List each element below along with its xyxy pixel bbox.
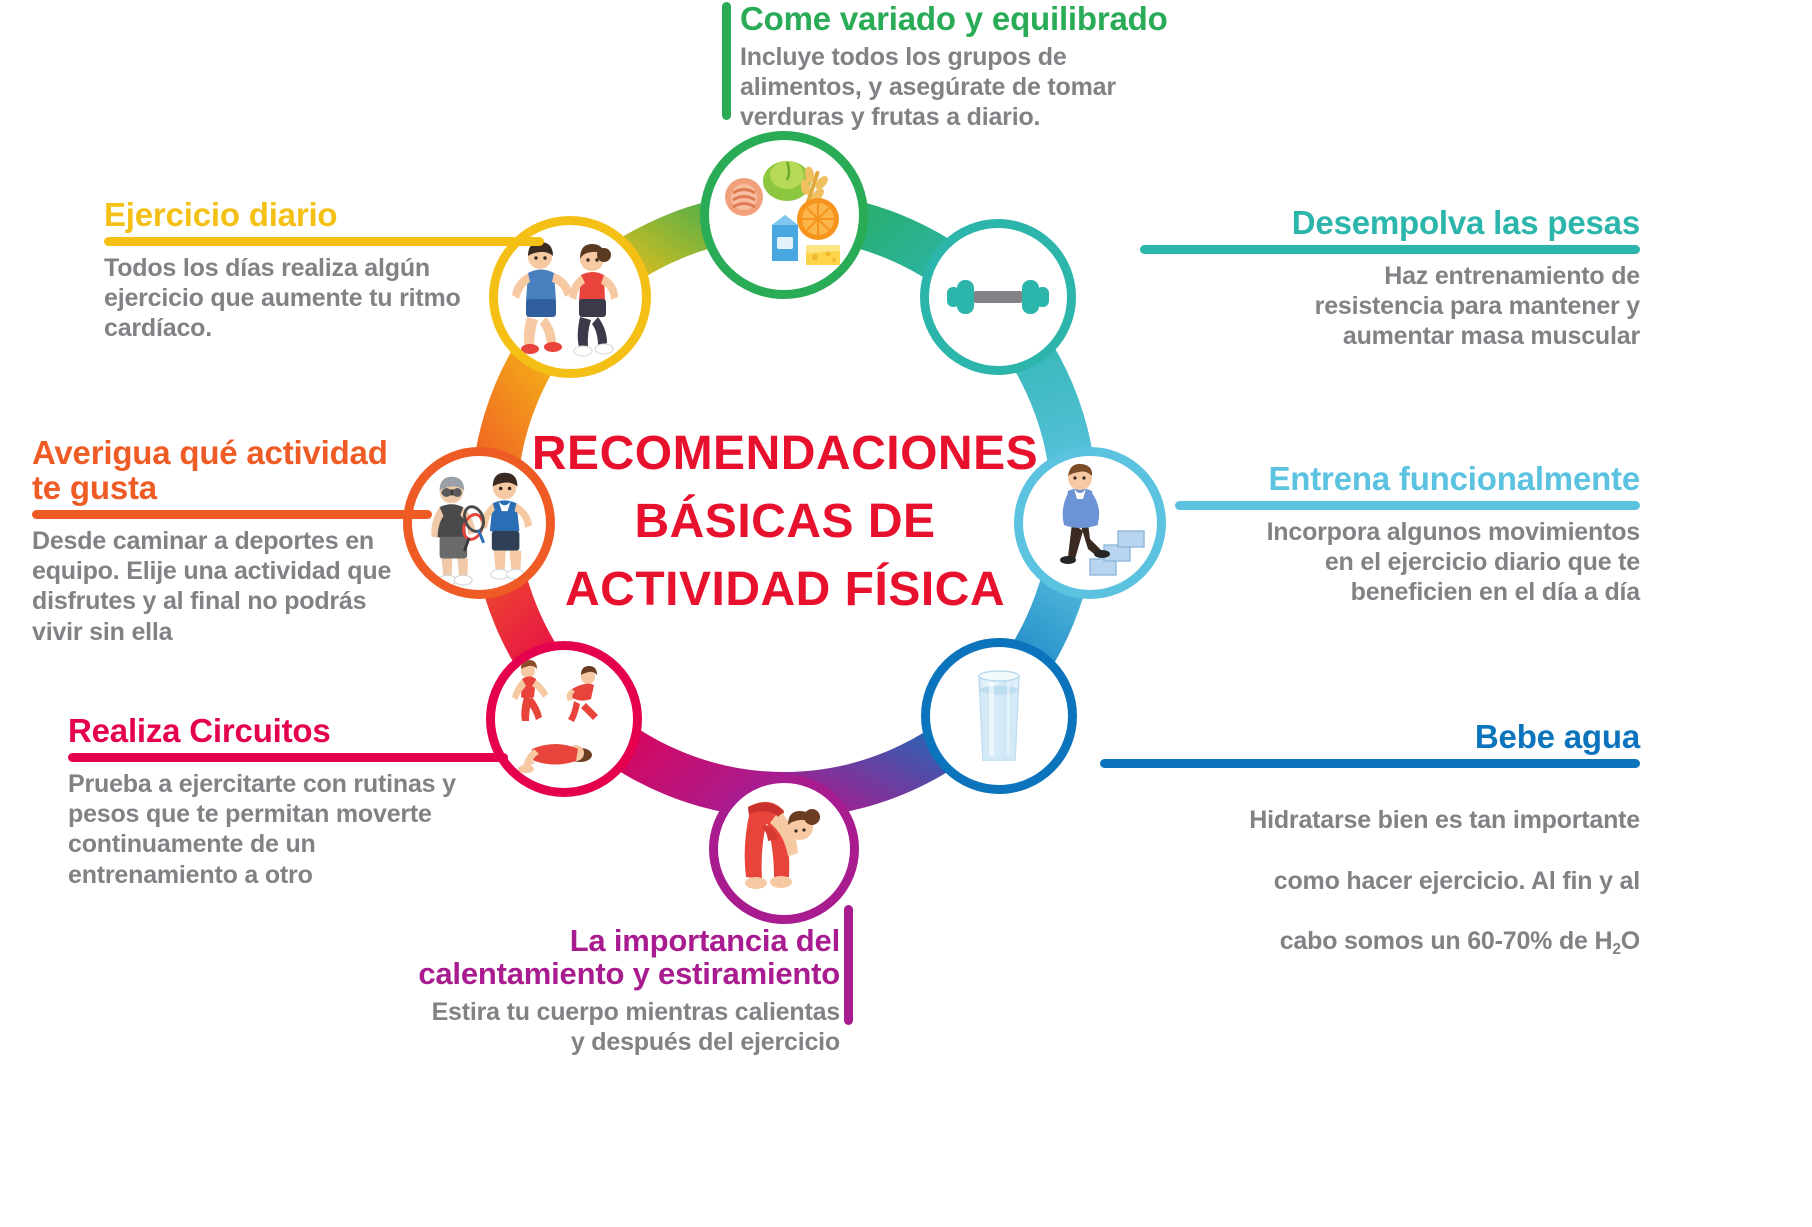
connector-desempolva-pesas — [1140, 245, 1640, 254]
callout-realiza-circuitos: Realiza Circuitos Prueba a ejercitarte c… — [68, 714, 508, 890]
page-title: RECOMENDACIONES BÁSICAS DE ACTIVIDAD FÍS… — [520, 420, 1050, 624]
node-calentamiento-estiramiento[interactable] — [709, 774, 859, 924]
callout-body-averigua-actividad: Desde caminar a deportes en equipo. Elij… — [32, 526, 432, 647]
callout-title-calentamiento-estiramiento: La importancia del calentamiento y estir… — [370, 925, 840, 991]
healthy-food-icon — [714, 145, 854, 285]
callout-body-desempolva-pesas: Haz entrenamiento de resistencia para ma… — [1140, 261, 1640, 352]
dumbbell-icon — [935, 234, 1061, 360]
connector-averigua-actividad — [32, 510, 432, 519]
callout-ejercicio-diario: Ejercicio diario Todos los días realiza … — [104, 198, 544, 344]
infographic-canvas: RECOMENDACIONES BÁSICAS DE ACTIVIDAD FÍS… — [0, 0, 1812, 1227]
bebe-agua-line-3-pre: cabo somos un 60-70% de H — [1280, 927, 1613, 955]
callout-title-ejercicio-diario: Ejercicio diario — [104, 198, 544, 233]
connector-bebe-agua — [1100, 759, 1640, 768]
node-bebe-agua[interactable] — [921, 638, 1077, 794]
stretching-woman-icon — [720, 785, 848, 913]
circuit-training-icon — [496, 651, 632, 787]
bebe-agua-line-3-post: O — [1621, 927, 1640, 955]
callout-title-desempolva-pesas: Desempolva las pesas — [1140, 206, 1640, 241]
callout-title-bebe-agua: Bebe agua — [1100, 720, 1640, 755]
callout-bebe-agua: Bebe agua Hidratarse bien es tan importa… — [1100, 720, 1640, 990]
bebe-agua-line-3: cabo somos un 60-70% de H2O — [1100, 926, 1640, 960]
callout-entrena-funcionalmente: Entrena funcionalmente Incorpora algunos… — [1175, 462, 1640, 608]
connector-calentamiento-estiramiento — [844, 905, 853, 1025]
callout-title-entrena-funcionalmente: Entrena funcionalmente — [1175, 462, 1640, 497]
callout-body-come-variado: Incluye todos los grupos de alimentos, y… — [740, 42, 1210, 133]
callout-body-calentamiento-estiramiento: Estira tu cuerpo mientras calientas y de… — [370, 997, 840, 1058]
callout-come-variado: Come variado y equilibrado Incluye todos… — [740, 2, 1210, 133]
callout-body-bebe-agua: Hidratarse bien es tan importante como h… — [1100, 775, 1640, 990]
callout-title-averigua-actividad: Averigua qué actividad te gusta — [32, 436, 432, 506]
connector-entrena-funcionalmente — [1175, 501, 1640, 510]
callout-body-entrena-funcionalmente: Incorpora algunos movimientos en el ejer… — [1175, 517, 1640, 608]
callout-desempolva-pesas: Desempolva las pesas Haz entrenamiento d… — [1140, 206, 1640, 352]
bebe-agua-subscript: 2 — [1612, 941, 1620, 958]
node-desempolva-pesas[interactable] — [920, 219, 1076, 375]
connector-come-variado — [722, 2, 731, 120]
callout-averigua-actividad: Averigua qué actividad te gusta Desde ca… — [32, 436, 432, 647]
node-come-variado[interactable] — [700, 131, 868, 299]
node-realiza-circuitos[interactable] — [486, 641, 642, 797]
callout-body-realiza-circuitos: Prueba a ejercitarte con rutinas y pesos… — [68, 769, 508, 890]
connector-ejercicio-diario — [104, 237, 544, 246]
bebe-agua-line-1: Hidratarse bien es tan importante — [1100, 805, 1640, 835]
callout-calentamiento-estiramiento: La importancia del calentamiento y estir… — [370, 925, 840, 1057]
callout-title-realiza-circuitos: Realiza Circuitos — [68, 714, 508, 749]
water-glass-icon — [939, 656, 1059, 776]
bebe-agua-line-2: como hacer ejercicio. Al fin y al — [1100, 866, 1640, 896]
connector-realiza-circuitos — [68, 753, 508, 762]
callout-title-come-variado: Come variado y equilibrado — [740, 2, 1210, 37]
callout-body-ejercicio-diario: Todos los días realiza algún ejercicio q… — [104, 253, 544, 344]
